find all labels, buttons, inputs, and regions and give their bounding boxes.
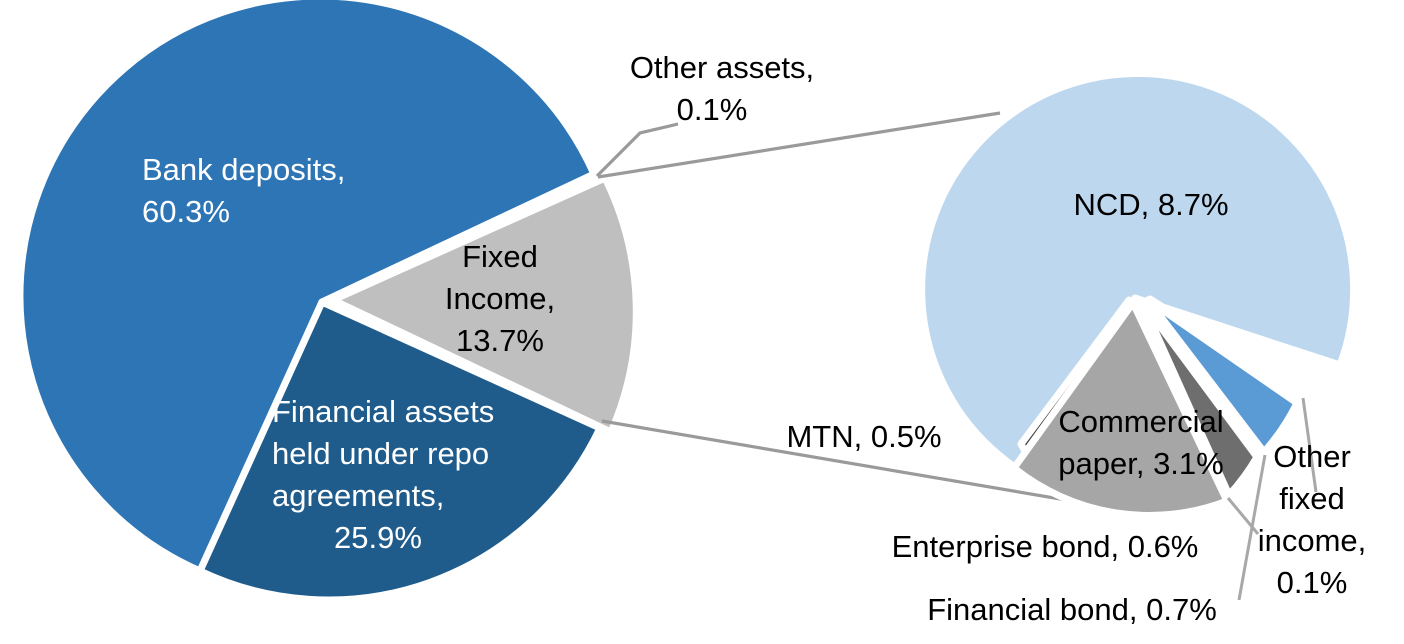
label-other-fixed-line1: Other [1273, 439, 1351, 474]
label-bank-deposits-line2: 60.3% [142, 194, 230, 229]
label-enterprise-bond: Enterprise bond, 0.6% [892, 529, 1199, 564]
label-bank-deposits-line1: Bank deposits, [142, 152, 345, 187]
label-fixed-income-line3: 13.7% [456, 323, 544, 358]
label-fixed-income-line1: Fixed [462, 239, 538, 274]
pie-of-pie-chart: Bank deposits, 60.3% Financial assets he… [0, 0, 1404, 644]
other-assets-leader-group [597, 124, 678, 176]
label-commercial-paper-line2: paper, 3.1% [1058, 446, 1223, 481]
label-fixed-income-line2: Income, [445, 281, 555, 316]
label-repo-line1: Financial assets [272, 394, 494, 429]
label-mtn: MTN, 0.5% [786, 419, 941, 454]
other-assets-leader-line [597, 124, 678, 176]
label-other-fixed-line4: 0.1% [1277, 565, 1348, 600]
label-commercial-paper-line1: Commercial [1058, 404, 1223, 439]
chart-canvas: Bank deposits, 60.3% Financial assets he… [0, 0, 1404, 644]
label-other-assets-line1: Other assets, [630, 50, 814, 85]
label-financial-bond: Financial bond, 0.7% [927, 592, 1217, 627]
label-other-fixed-line2: fixed [1279, 481, 1344, 516]
label-repo-line4: 25.9% [334, 520, 422, 555]
label-repo-line3: agreements, [272, 478, 444, 513]
label-repo-line2: held under repo [272, 436, 489, 471]
label-other-assets-line2: 0.1% [677, 92, 748, 127]
label-ncd: NCD, 8.7% [1073, 187, 1228, 222]
label-other-fixed-line3: income, [1258, 523, 1367, 558]
connector-upper [598, 113, 1000, 177]
